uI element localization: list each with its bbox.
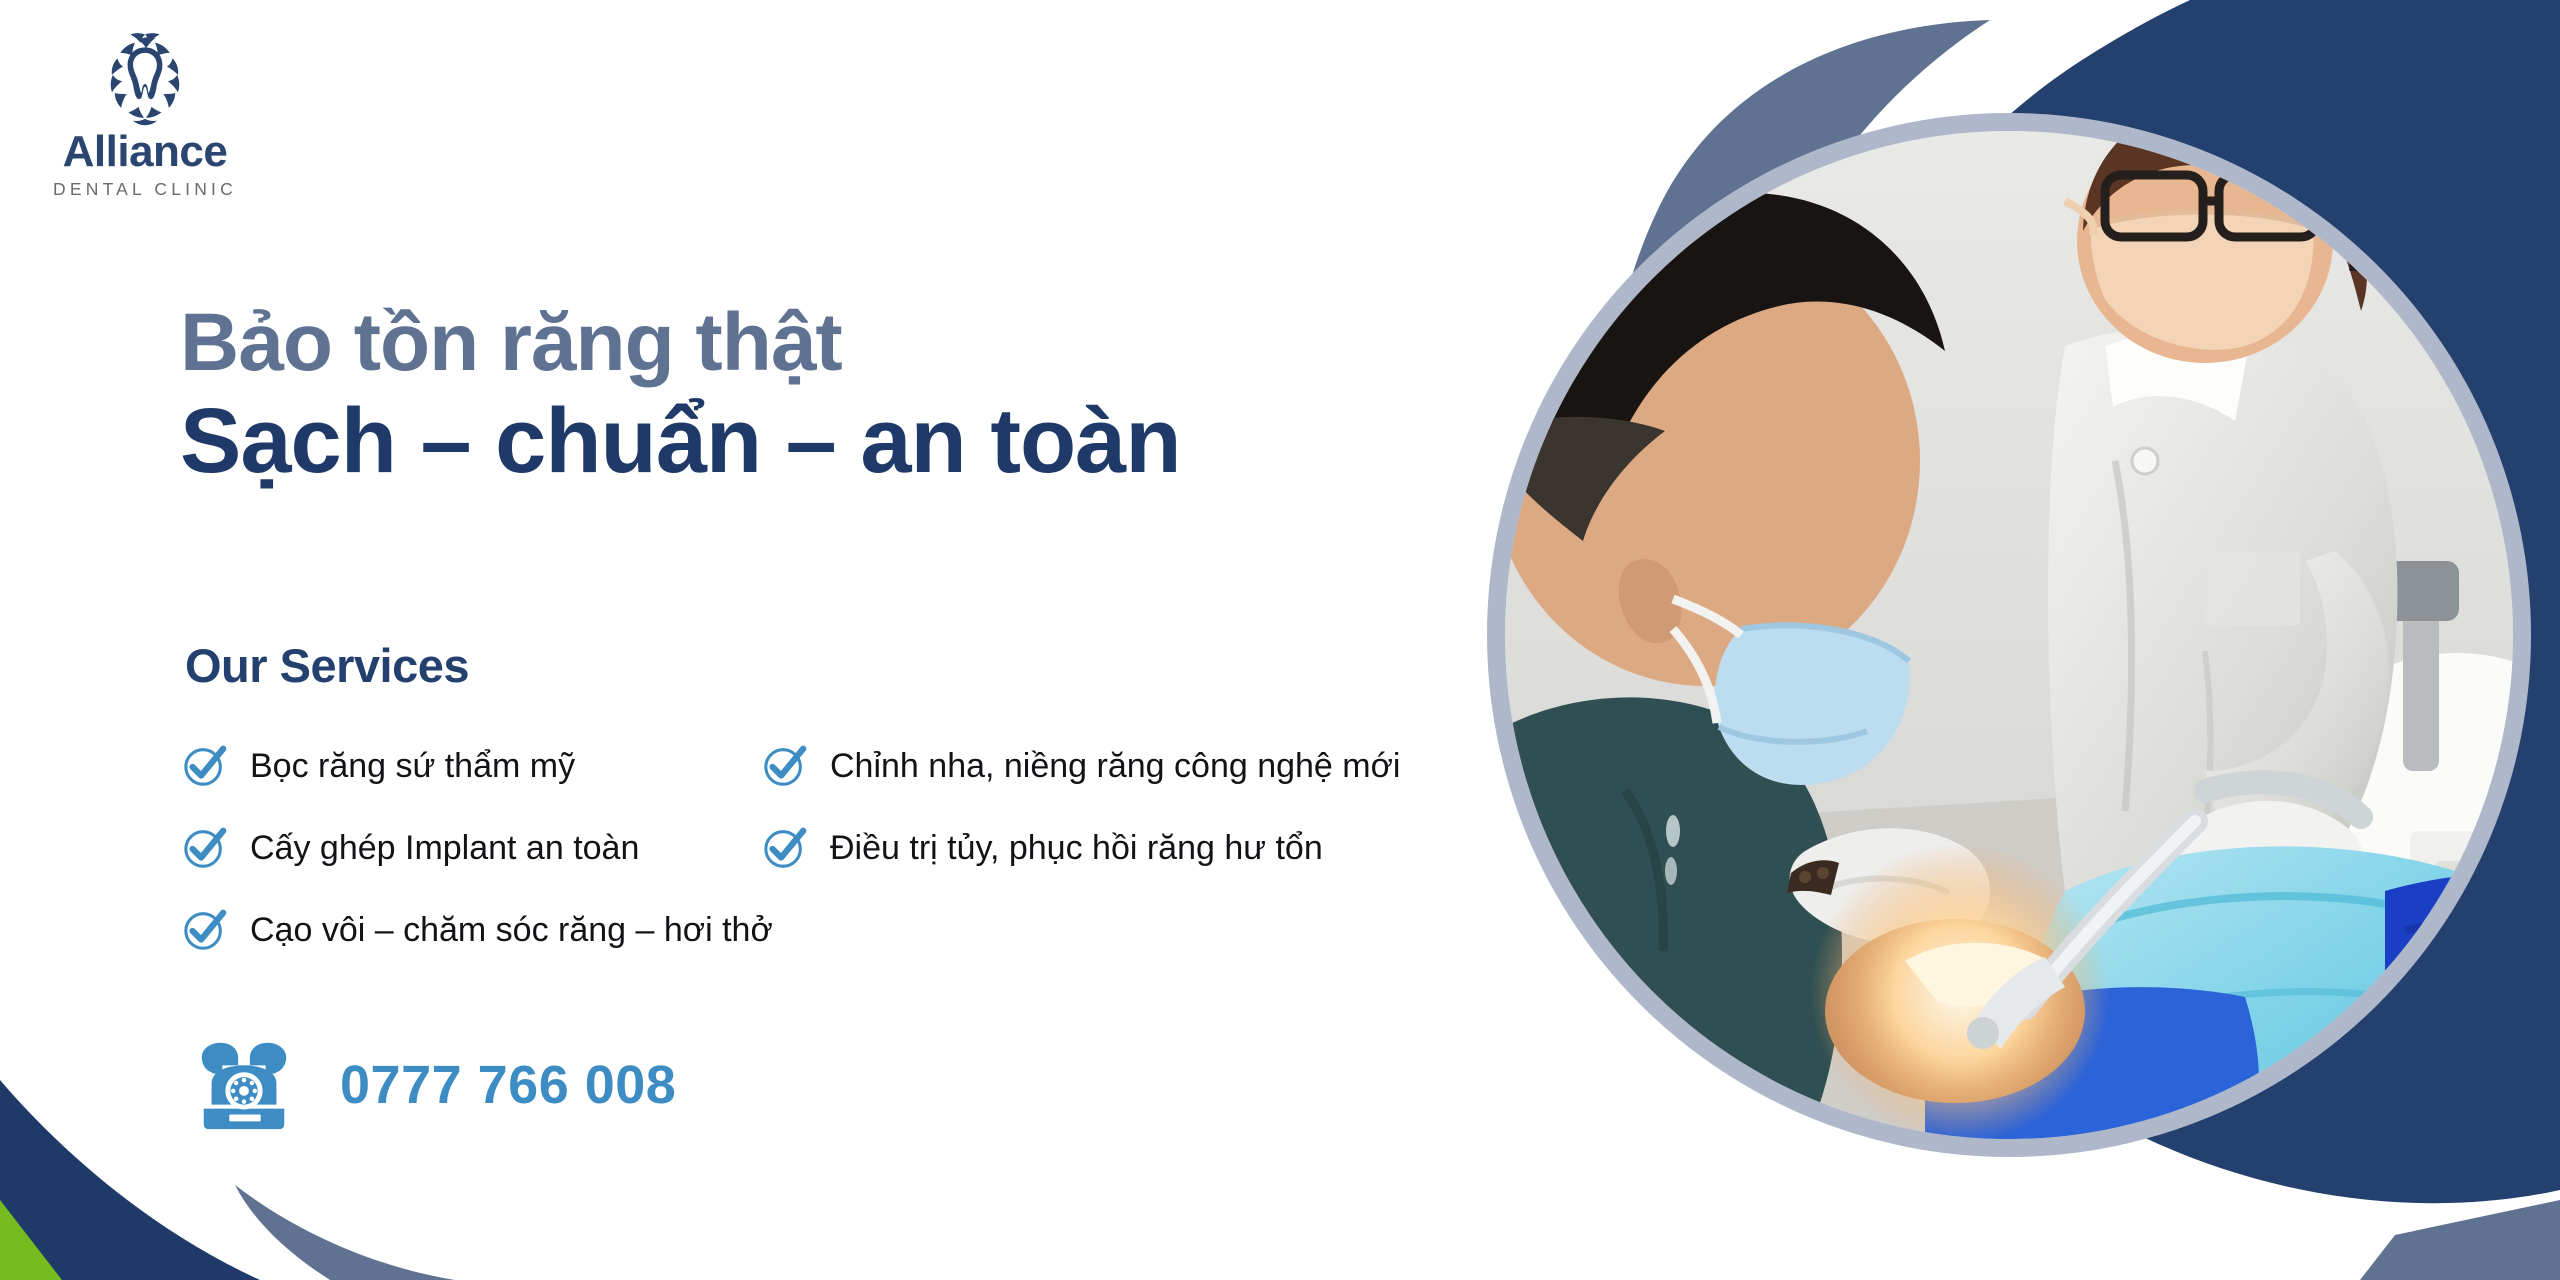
service-label: Điều trị tủy, phục hồi răng hư tổn	[830, 828, 1323, 869]
services-column-left: Bọc răng sứ thẩm mỹ Cấy ghép Implant an …	[182, 725, 802, 971]
service-item: Bọc răng sứ thẩm mỹ	[182, 725, 802, 807]
circle-check-icon	[182, 907, 228, 953]
service-item: Chỉnh nha, niềng răng công nghệ mới	[762, 725, 1482, 807]
phone-number[interactable]: 0777 766 008	[340, 1054, 676, 1116]
service-label: Bọc răng sứ thẩm mỹ	[250, 746, 575, 787]
services-title: Our Services	[185, 638, 469, 693]
circle-check-icon	[762, 825, 808, 871]
rotary-telephone-icon	[190, 1035, 298, 1135]
service-label: Chỉnh nha, niềng răng công nghệ mới	[830, 746, 1400, 787]
contact-phone[interactable]: 0777 766 008	[190, 1035, 676, 1135]
service-item: Điều trị tủy, phục hồi răng hư tổn	[762, 807, 1482, 889]
service-label: Cạo vôi – chăm sóc răng – hơi thở	[250, 910, 773, 951]
clinic-photo	[1505, 131, 2513, 1139]
headline-line-1: Bảo tồn răng thật	[180, 300, 1181, 386]
logo-wordmark: Alliance	[30, 130, 260, 174]
service-label: Cấy ghép Implant an toàn	[250, 828, 639, 869]
circle-check-icon	[182, 743, 228, 789]
slate-crescent-bottom-left	[235, 1185, 455, 1280]
service-item: Cạo vôi – chăm sóc răng – hơi thở	[182, 889, 802, 971]
laurel-wreath-tooth-icon	[90, 18, 200, 128]
services-column-right: Chỉnh nha, niềng răng công nghệ mới Điều…	[762, 725, 1482, 889]
logo-tagline: DENTAL CLINIC	[30, 179, 260, 200]
clinic-photo-illustration	[1505, 131, 2513, 1139]
headline: Bảo tồn răng thật Sạch – chuẩn – an toàn	[180, 300, 1181, 491]
photo-ring	[1487, 113, 2531, 1157]
circle-check-icon	[182, 825, 228, 871]
brand-logo: Alliance DENTAL CLINIC	[30, 18, 260, 200]
dentist-treatment-scene	[1505, 131, 2513, 1139]
service-item: Cấy ghép Implant an toàn	[182, 807, 802, 889]
circle-check-icon	[762, 743, 808, 789]
headline-line-2: Sạch – chuẩn – an toàn	[180, 392, 1181, 491]
slate-wedge-bottom-right	[2360, 1200, 2560, 1280]
